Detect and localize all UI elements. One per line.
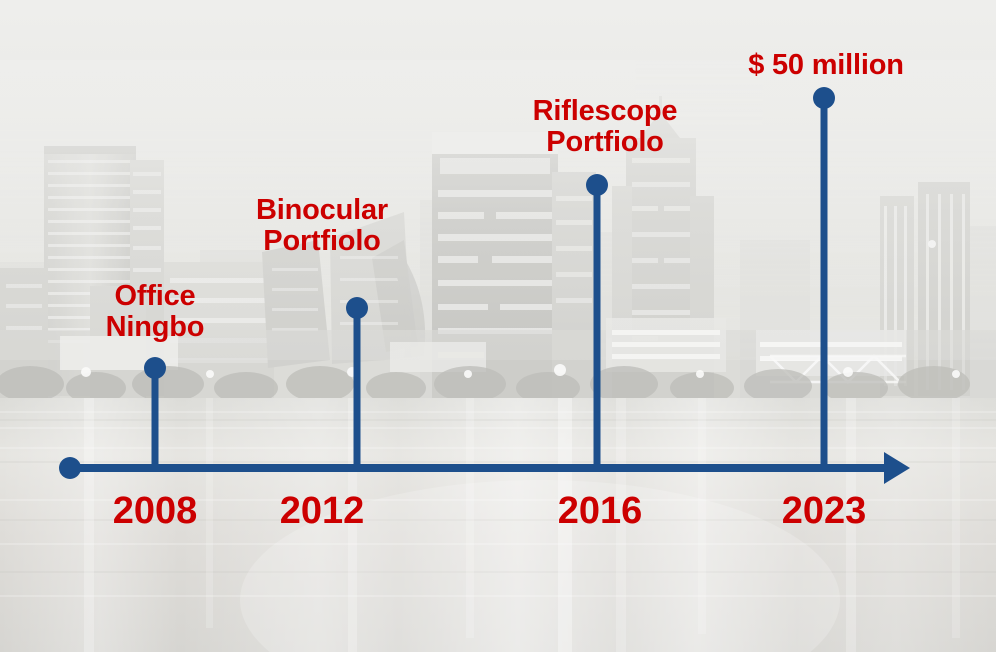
- timeline-axis-line: [70, 464, 900, 472]
- year-label-2023: 2023: [782, 492, 867, 530]
- milestone-dot-2023[interactable]: [813, 87, 835, 109]
- year-label-2016: 2016: [558, 492, 643, 530]
- stem-2016: [594, 185, 601, 468]
- milestone-label-2008: Office Ningbo: [50, 281, 260, 344]
- axis-arrow-icon: [884, 452, 910, 484]
- timeline-chart: Office Ningbo 2008 Binocular Portfiolo 2…: [0, 0, 996, 652]
- milestone-label-2023: $ 50 million: [656, 50, 996, 81]
- year-label-2008: 2008: [113, 492, 198, 530]
- milestone-label-2016: Riflescope Portfiolo: [465, 96, 745, 159]
- stem-2023: [821, 98, 828, 468]
- year-label-2012: 2012: [280, 492, 365, 530]
- milestone-label-2012: Binocular Portfiolo: [192, 195, 452, 258]
- milestone-dot-2012[interactable]: [346, 297, 368, 319]
- timeline-infographic: Office Ningbo 2008 Binocular Portfiolo 2…: [0, 0, 996, 652]
- stem-2008: [152, 368, 159, 468]
- stem-2012: [354, 308, 361, 468]
- milestone-dot-2008[interactable]: [144, 357, 166, 379]
- milestone-dot-2016[interactable]: [586, 174, 608, 196]
